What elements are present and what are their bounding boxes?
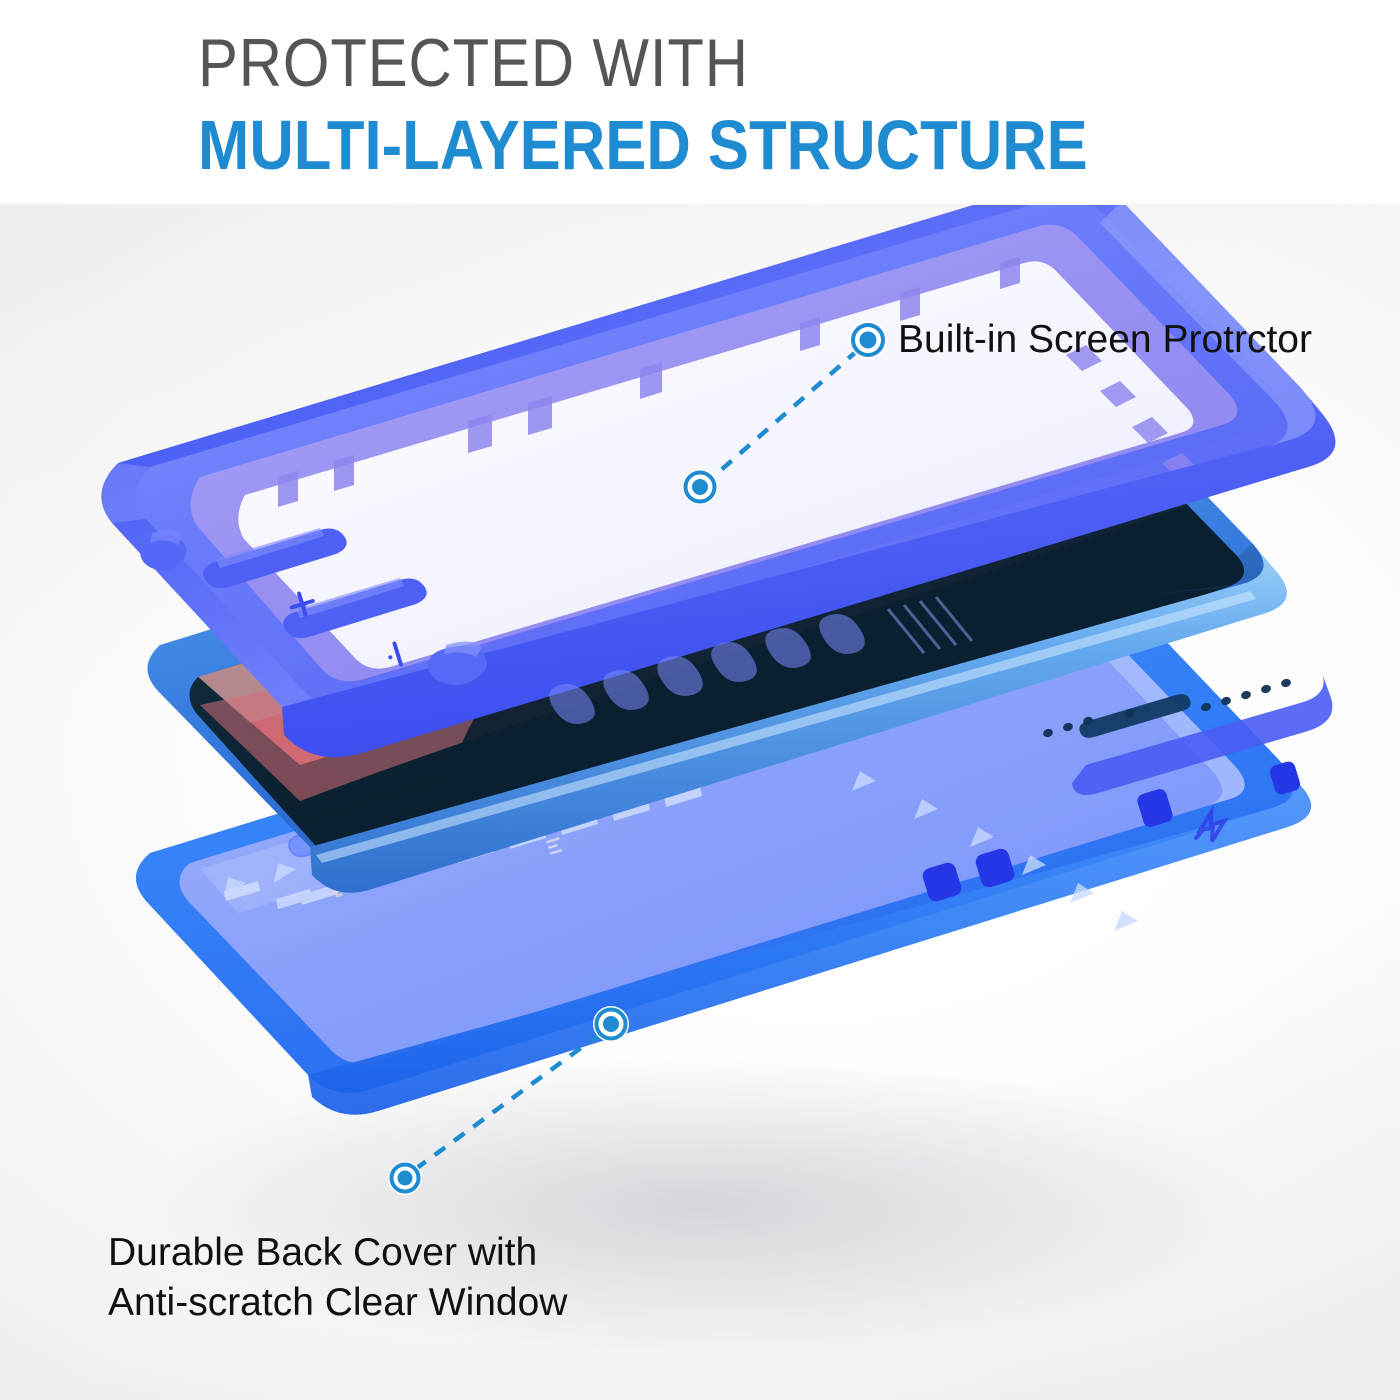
callout-label-back-cover-line-2: Anti-scratch Clear Window [108, 1278, 668, 1328]
headline-line-1: PROTECTED WITH [198, 27, 749, 99]
callout-label-screen-protector: Built-in Screen Protrctor [898, 315, 1312, 365]
header-banner: PROTECTED WITH MULTI-LAYERED STRUCTURE [0, 0, 1400, 205]
callout-label-back-cover: Durable Back Cover with Anti-scratch Cle… [108, 1228, 668, 1328]
infographic-canvas: PROTECTED WITH MULTI-LAYERED STRUCTURE [0, 0, 1400, 1400]
product-exploded-view [0, 205, 1400, 1400]
callout-label-back-cover-line-1: Durable Back Cover with [108, 1228, 668, 1278]
headline-line-2: MULTI-LAYERED STRUCTURE [198, 108, 1088, 182]
